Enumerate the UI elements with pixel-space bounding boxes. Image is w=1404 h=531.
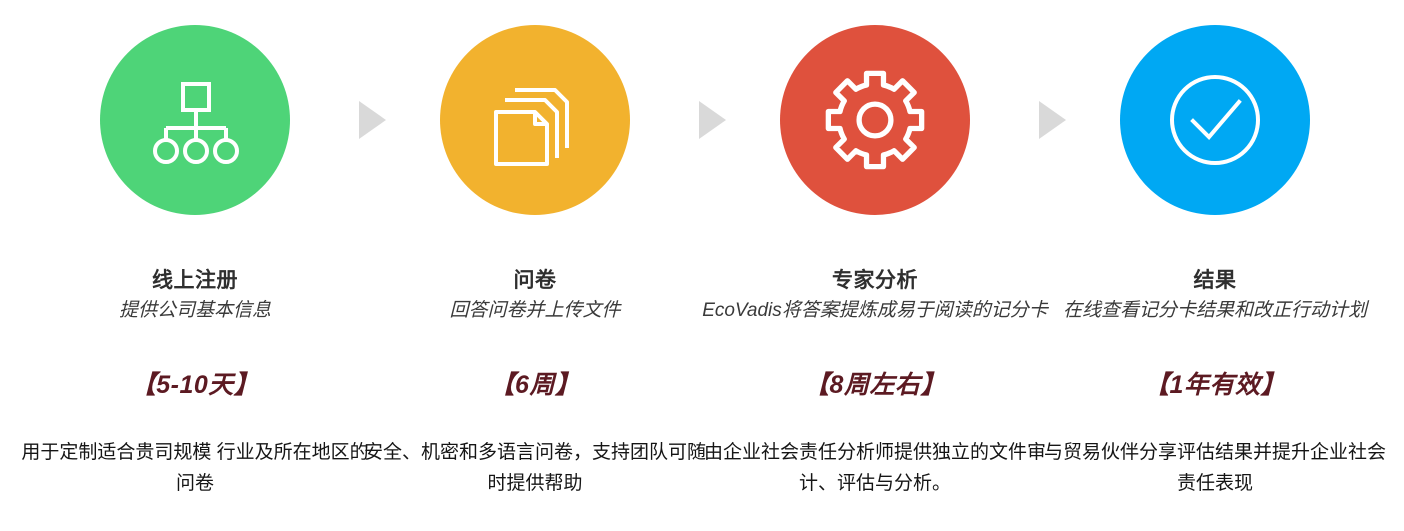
- step-title: 线上注册: [21, 267, 369, 295]
- gear-icon: [822, 67, 928, 173]
- step-duration-badge: 【6周】: [361, 370, 709, 400]
- step-icon-circle-results: [1120, 25, 1310, 215]
- step-duration-badge: 【1年有效】: [1041, 370, 1389, 400]
- step-heading-block: 专家分析 EcoVadis将答案提炼成易于阅读的记分卡: [701, 267, 1049, 324]
- step-subtitle: EcoVadis将答案提炼成易于阅读的记分卡: [701, 297, 1049, 324]
- step-subtitle: 回答问卷并上传文件: [361, 297, 709, 324]
- icon-row: [0, 0, 1404, 240]
- arrow-3: [1039, 101, 1066, 139]
- step-icon-circle-registration: [100, 25, 290, 215]
- process-flow-diagram: 线上注册 提供公司基本信息 【5-10天】 用于定制适合贵司规模 行业及所在地区…: [0, 0, 1404, 531]
- step-icon-circle-analysis: [780, 25, 970, 215]
- step-heading-block: 线上注册 提供公司基本信息: [21, 267, 369, 324]
- documents-stack-icon: [483, 68, 587, 172]
- arrow-1: [359, 101, 386, 139]
- step-description: 安全、机密和多语言问卷，支持团队可随时提供帮助: [361, 437, 709, 499]
- step-icon-circle-questionnaire: [440, 25, 630, 215]
- org-chart-icon: [143, 68, 247, 172]
- check-circle-icon: [1163, 68, 1267, 172]
- step-duration-badge: 【8周左右】: [701, 370, 1049, 400]
- step-description: 与贸易伙伴分享评估结果并提升企业社会责任表现: [1041, 437, 1389, 499]
- step-subtitle: 在线查看记分卡结果和改正行动计划: [1041, 297, 1389, 324]
- step-title: 专家分析: [701, 267, 1049, 295]
- step-text-columns: 线上注册 提供公司基本信息 【5-10天】 用于定制适合贵司规模 行业及所在地区…: [0, 245, 1404, 531]
- step-description: 用于定制适合贵司规模 行业及所在地区的问卷: [21, 437, 369, 499]
- step-title: 问卷: [361, 267, 709, 295]
- step-subtitle: 提供公司基本信息: [21, 297, 369, 324]
- arrow-2: [699, 101, 726, 139]
- step-description: 由企业社会责任分析师提供独立的文件审计、评估与分析。: [701, 437, 1049, 499]
- step-title: 结果: [1041, 267, 1389, 295]
- step-heading-block: 结果 在线查看记分卡结果和改正行动计划: [1041, 267, 1389, 324]
- step-heading-block: 问卷 回答问卷并上传文件: [361, 267, 709, 324]
- step-duration-badge: 【5-10天】: [21, 370, 369, 400]
